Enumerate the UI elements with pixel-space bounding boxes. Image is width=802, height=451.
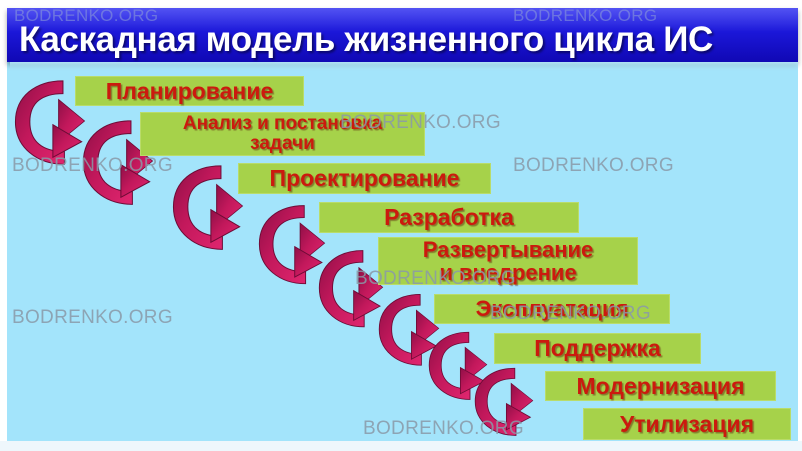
arrow-to-modernization-icon [428, 330, 488, 404]
arrow-to-deployment-icon [258, 203, 326, 289]
watermark-6: BODRENKO.ORG [355, 268, 516, 290]
watermark-4: BODRENKO.ORG [12, 155, 173, 177]
arrow-to-development-icon [172, 163, 244, 255]
slide-frame-left [0, 0, 7, 451]
stage-box-1: Планирование [75, 76, 304, 106]
watermark-3: BODRENKO.ORG [340, 112, 501, 134]
waterfall-model-slide: Каскадная модель жизненного цикла ИС Пла… [0, 0, 802, 451]
slide-frame-bottom [0, 441, 802, 451]
stage-box-4: Разработка [319, 202, 579, 233]
stage-box-8: Модернизация [545, 371, 776, 401]
watermark-7: BODRENKO.ORG [12, 307, 173, 329]
arrow-to-support-icon [378, 292, 440, 370]
watermark-8: BODRENKO.ORG [490, 303, 651, 325]
stage-label-1: Планирование [100, 79, 280, 103]
watermark-2: BODRENKO.ORG [513, 6, 657, 26]
stage-label-7: Поддержка [528, 336, 667, 360]
page-title: Каскадная модель жизненного цикла ИС [19, 20, 789, 60]
stage-label-8: Модернизация [571, 374, 751, 398]
slide-frame-right [798, 0, 802, 451]
stage-label-9: Утилизация [614, 412, 760, 436]
arrow-to-operation-icon [318, 248, 384, 332]
stage-box-3: Проектирование [238, 163, 491, 194]
stage-label-3: Проектирование [264, 166, 466, 190]
title-underglow [10, 62, 798, 71]
stage-box-9: Утилизация [583, 408, 791, 440]
watermark-1: BODRENKO.ORG [14, 6, 158, 26]
watermark-5: BODRENKO.ORG [513, 155, 674, 177]
stage-box-7: Поддержка [494, 333, 701, 364]
watermark-9: BODRENKO.ORG [363, 418, 524, 440]
stage-label-4: Разработка [378, 205, 520, 229]
